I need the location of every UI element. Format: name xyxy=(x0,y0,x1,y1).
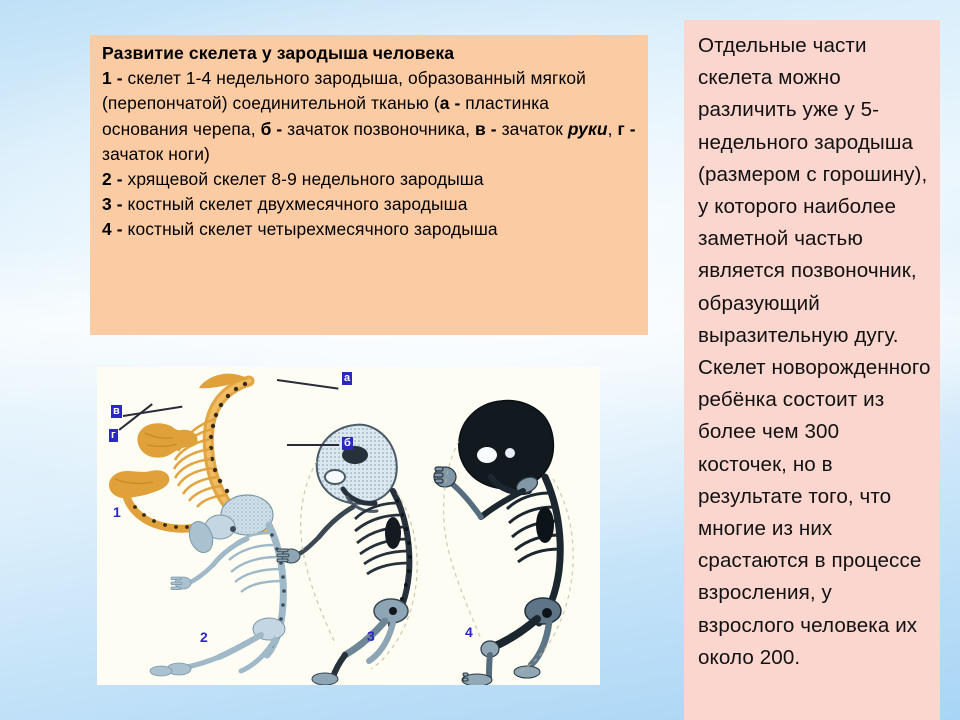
leader-line-b xyxy=(287,444,339,446)
figure-number-3: 3 xyxy=(367,629,375,643)
caption-item-1-italic: руки xyxy=(568,119,608,139)
caption-title-text: Развитие скелета у зародыша человека xyxy=(102,43,454,63)
caption-item-4-marker: 4 - xyxy=(102,219,123,239)
caption-item-1: 1 - скелет 1-4 недельного зародыша, обра… xyxy=(102,66,638,167)
slide-canvas: Развитие скелета у зародыша человека 1 -… xyxy=(0,0,960,720)
caption-sub-v: в - xyxy=(475,119,497,139)
caption-item-1-part4: зачаток xyxy=(497,119,568,139)
caption-item-2-marker: 2 - xyxy=(102,169,123,189)
illustration-artwork: а б в г 1 2 3 4 xyxy=(97,367,600,685)
caption-panel: Развитие скелета у зародыша человека 1 -… xyxy=(90,35,648,335)
caption-item-3-text: костный скелет двухмесячного зародыша xyxy=(123,194,468,214)
pink-panel-text: Отдельные части скелета можно различить … xyxy=(698,30,932,674)
illustration-panel: а б в г 1 2 3 4 xyxy=(97,367,600,685)
figure-number-4: 4 xyxy=(465,625,473,639)
pink-text-panel: Отдельные части скелета можно различить … xyxy=(684,20,940,720)
caption-item-2: 2 - хрящевой скелет 8-9 недельного зарод… xyxy=(102,167,638,192)
callout-label-v: в xyxy=(111,405,122,418)
caption-item-4-text: костный скелет четырехмесячного зародыша xyxy=(123,219,498,239)
callout-label-a: а xyxy=(342,372,352,385)
caption-item-3: 3 - костный скелет двухмесячного зародыш… xyxy=(102,192,638,217)
caption-sub-g: г - xyxy=(617,119,635,139)
caption-item-1-marker: 1 - xyxy=(102,68,123,88)
figure-3-bone-skeleton xyxy=(277,425,417,685)
figure-4-bone-skeleton xyxy=(434,401,573,685)
caption-item-1-part3: зачаток позвоночника, xyxy=(282,119,475,139)
caption-item-3-marker: 3 - xyxy=(102,194,123,214)
caption-item-1-part5: , xyxy=(608,119,618,139)
caption-item-2-text: хрящевой скелет 8-9 недельного зародыша xyxy=(123,169,484,189)
figure-number-2: 2 xyxy=(200,630,208,644)
figure-number-1: 1 xyxy=(113,505,121,519)
caption-sub-b: б - xyxy=(261,119,283,139)
caption-sub-a: а - xyxy=(440,93,461,113)
callout-label-g: г xyxy=(109,429,118,442)
caption-item-1-part6: зачаток ноги) xyxy=(102,144,210,164)
figure-2-cartilage-skeleton xyxy=(150,495,286,676)
embryo-skeleton-figure-icon xyxy=(97,367,600,685)
callout-label-b: б xyxy=(342,437,353,450)
caption-item-4: 4 - костный скелет четырехмесячного заро… xyxy=(102,217,638,242)
caption-title: Развитие скелета у зародыша человека xyxy=(102,41,638,66)
